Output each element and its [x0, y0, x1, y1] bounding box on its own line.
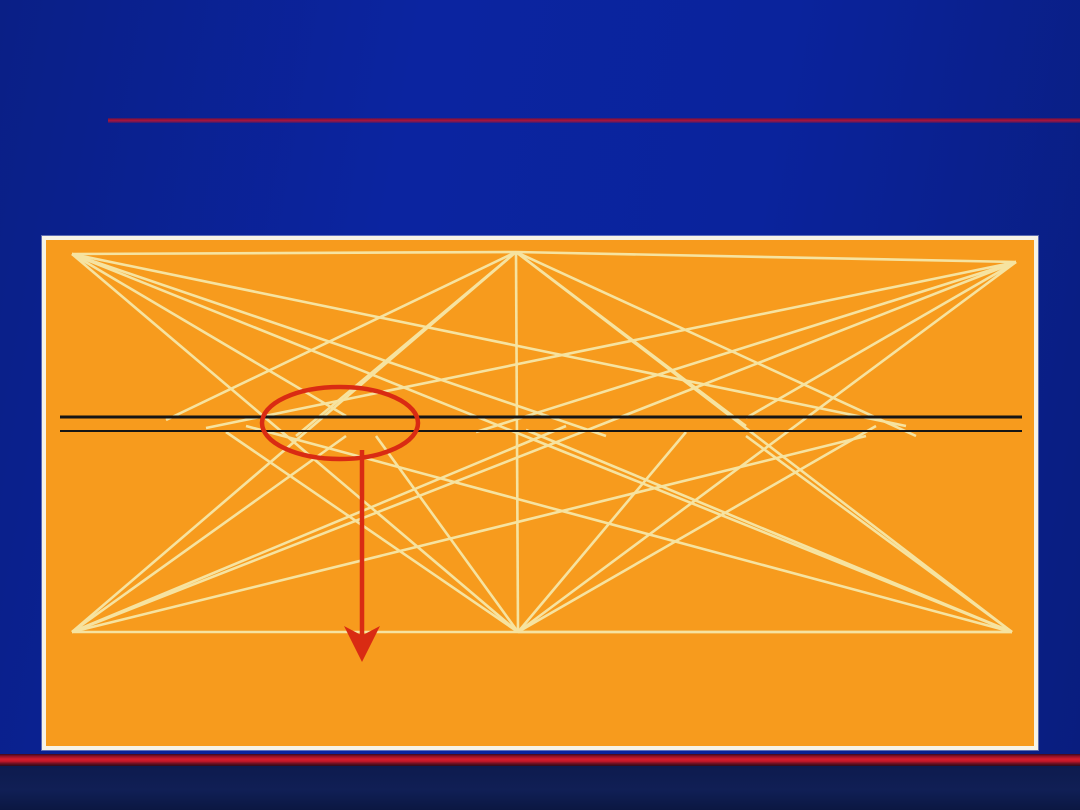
title-bar [0, 0, 1080, 105]
figure-panel [42, 236, 1038, 750]
footer-band [0, 766, 1080, 810]
figure-canvas [46, 240, 1034, 746]
control-network-diagram [46, 240, 1034, 746]
title-divider [108, 118, 1080, 123]
slide-root [0, 0, 1080, 810]
survey-sight-lines [72, 252, 1016, 632]
footer-rule [0, 754, 1080, 766]
